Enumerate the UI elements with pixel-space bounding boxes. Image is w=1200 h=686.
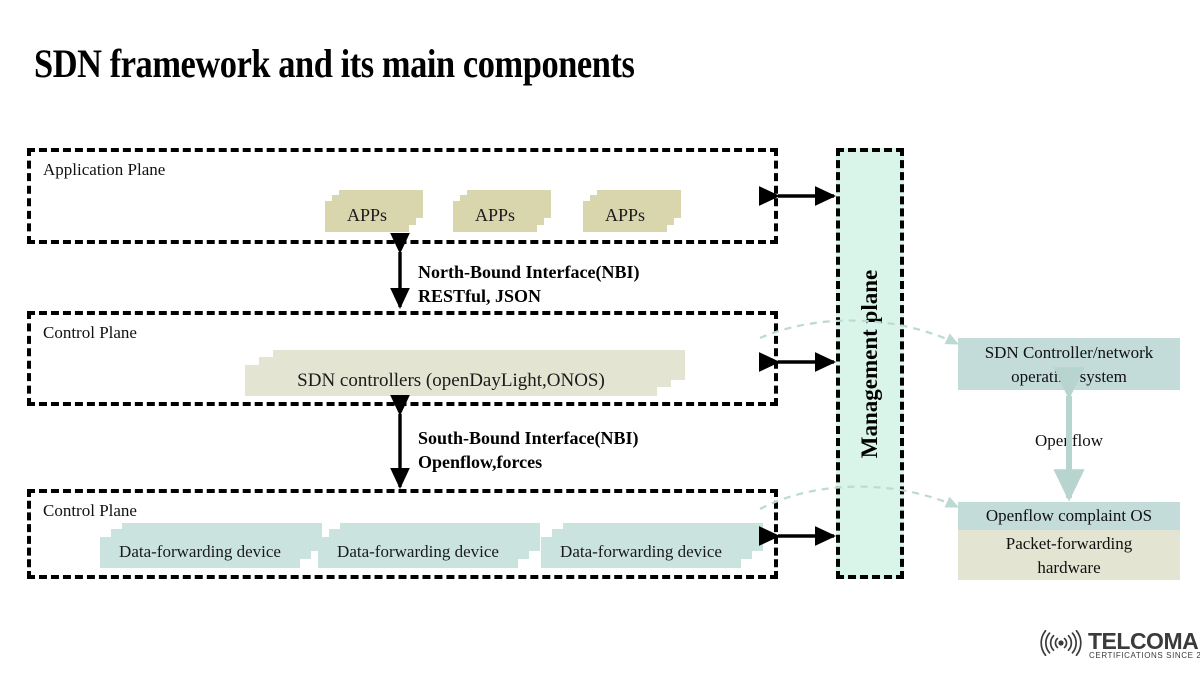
data-forwarding-device-stack-1[interactable]: Data-forwarding device [100,523,322,568]
packet-hardware-line-1: Packet-forwarding [958,532,1180,556]
sdn-controllers-stack[interactable]: SDN controllers (openDayLight,ONOS) [245,350,685,396]
sdn-controllers-label: SDN controllers (openDayLight,ONOS) [245,370,657,392]
sdn-controller-line-2: operating system [958,365,1180,389]
logo-tagline: CERTIFICATIONS SINCE 2009 [1089,651,1200,660]
apps-label: APPs [583,205,667,226]
packet-forwarding-hardware-box[interactable]: Packet-forwarding hardware [958,530,1180,580]
southbound-line-1: South-Bound Interface(NBI) [418,426,639,450]
openflow-complaint-os-box[interactable]: Openflow complaint OS [958,502,1180,530]
data-forwarding-device-label: Data-forwarding device [100,542,300,562]
northbound-interface-annotation: North-Bound Interface(NBI) RESTful, JSON [418,260,639,308]
southbound-interface-annotation: South-Bound Interface(NBI) Openflow,forc… [418,426,639,474]
apps-label: APPs [325,205,409,226]
sdn-controller-network-os-box[interactable]: SDN Controller/network operating system [958,338,1180,390]
apps-label: APPs [453,205,537,226]
radio-waves-icon [1036,630,1086,656]
management-plane-box: Management plane [836,148,904,579]
management-plane-label: Management plane [857,269,883,457]
apps-stack-2[interactable]: APPs [453,190,551,232]
data-forwarding-device-label: Data-forwarding device [541,542,741,562]
southbound-line-2: Openflow,forces [418,450,639,474]
northbound-line-2: RESTful, JSON [418,284,639,308]
openflow-link-label: Openflow [958,431,1180,451]
page-title: SDN framework and its main components [34,40,634,87]
data-forwarding-device-stack-2[interactable]: Data-forwarding device [318,523,540,568]
data-forwarding-device-stack-3[interactable]: Data-forwarding device [541,523,763,568]
apps-stack-3[interactable]: APPs [583,190,681,232]
sdn-controller-line-1: SDN Controller/network [958,341,1180,365]
application-plane-label: Application Plane [43,160,165,180]
openflow-os-line-1: Openflow complaint OS [958,502,1180,530]
slide-canvas: SDN framework and its main components Ap… [0,0,1200,686]
control-plane-label: Control Plane [43,323,137,343]
northbound-line-1: North-Bound Interface(NBI) [418,260,639,284]
data-plane-label: Control Plane [43,501,137,521]
data-forwarding-device-label: Data-forwarding device [318,542,518,562]
packet-hardware-line-2: hardware [958,556,1180,580]
telcoma-logo: TELCOMA CERTIFICATIONS SINCE 2009 [1036,628,1188,662]
apps-stack-1[interactable]: APPs [325,190,423,232]
